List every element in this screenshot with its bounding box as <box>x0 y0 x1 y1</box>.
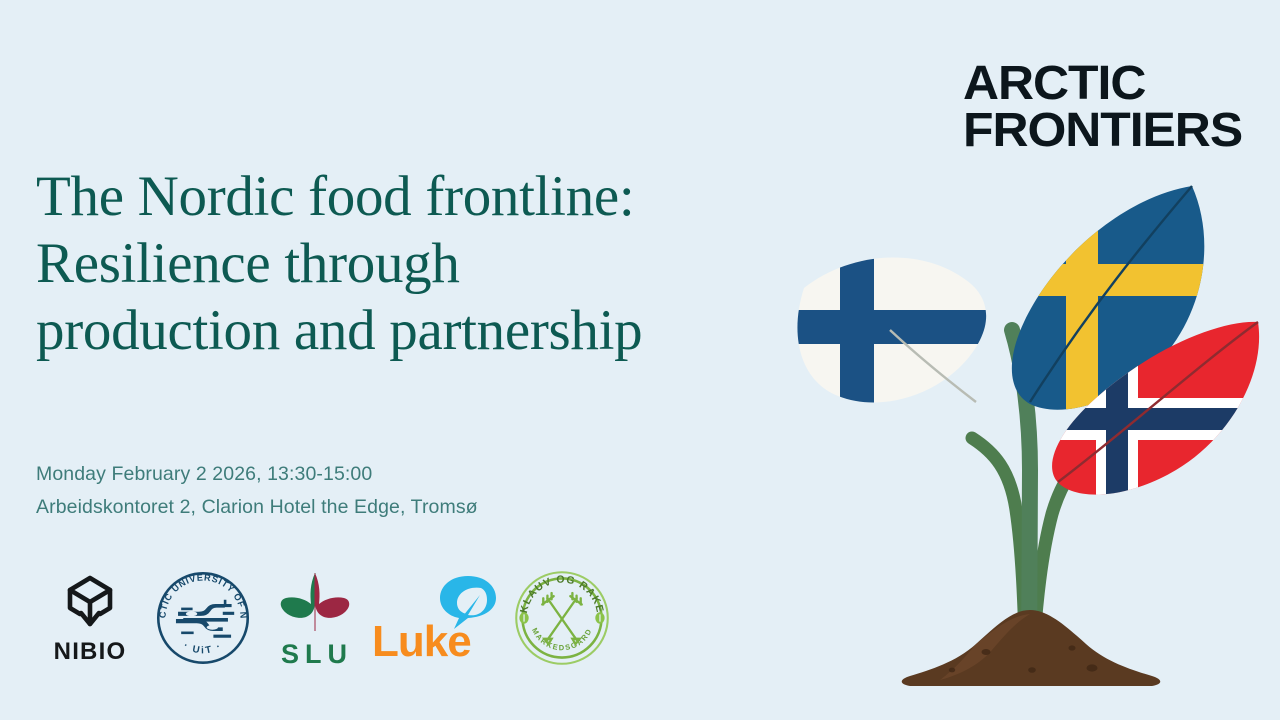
nibio-wordmark: NIBIO <box>54 638 127 666</box>
slide-canvas: The Nordic food frontline: Resilience th… <box>0 0 1280 720</box>
nordic-flag-plant-illustration <box>780 170 1280 690</box>
svg-text:MARKEDSGÅRD: MARKEDSGÅRD <box>530 626 594 652</box>
content-column: The Nordic food frontline: Resilience th… <box>36 0 696 720</box>
soil-mound <box>902 610 1161 686</box>
partner-logo-luke: Luke <box>367 563 502 678</box>
event-details: Monday February 2 2026, 13:30-15:00 Arbe… <box>36 458 656 524</box>
partner-logo-klauv-og-rake: KLAUV OG RAKE MARKEDSGÅRD <box>502 563 622 678</box>
svg-text:THE ARCTIC UNIVERSITY OF NORWA: THE ARCTIC UNIVERSITY OF NORWAY <box>151 566 249 619</box>
partner-logo-row: NIBIO THE ARCTIC UNIVERSITY OF NORWAY <box>36 560 622 680</box>
partner-logo-nibio: NIBIO <box>36 563 144 678</box>
partner-logo-uit: THE ARCTIC UNIVERSITY OF NORWAY · UiT · <box>144 563 262 678</box>
cube-icon <box>64 574 116 634</box>
event-venue: Arbeidskontoret 2, Clarion Hotel the Edg… <box>36 491 656 524</box>
clover-icon <box>275 571 355 638</box>
page-title: The Nordic food frontline: Resilience th… <box>36 163 656 364</box>
event-datetime: Monday February 2 2026, 13:30-15:00 <box>36 458 656 491</box>
uit-seal-icon: THE ARCTIC UNIVERSITY OF NORWAY · UiT · <box>151 566 255 675</box>
svg-text:KLAUV OG RAKE: KLAUV OG RAKE <box>519 574 605 614</box>
brand-line-2: FRONTIERS <box>963 109 1275 153</box>
arctic-frontiers-logo: ARCTIC FRONTIERS <box>963 62 1263 153</box>
finland-flag-leaf <box>780 230 1010 430</box>
luke-wordmark: Luke <box>372 620 471 664</box>
crossed-rakes-icon: KLAUV OG RAKE MARKEDSGÅRD <box>510 566 614 675</box>
brand-line-1: ARCTIC <box>963 62 1275 106</box>
partner-logo-slu: SLU <box>262 563 367 678</box>
svg-text:· UiT ·: · UiT · <box>181 640 224 656</box>
slu-wordmark: SLU <box>276 639 353 670</box>
